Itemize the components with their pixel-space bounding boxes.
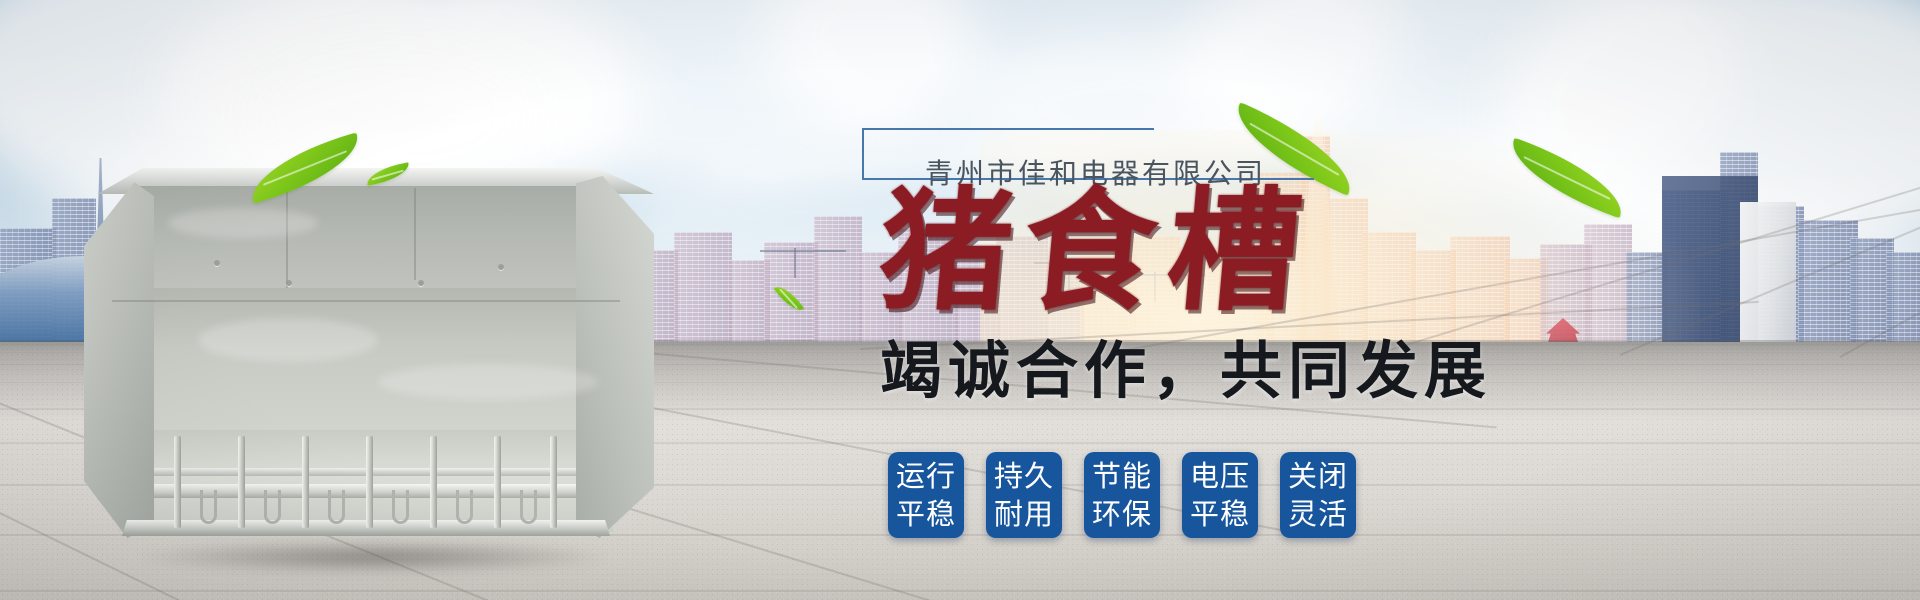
skyline-building [814,216,862,348]
banner-slogan: 竭诚合作，共同发展 [880,340,1492,402]
product-image-steel-trough [78,168,658,568]
trough-divider [366,436,373,528]
badge-line-1: 节能 [1092,457,1152,495]
skyline-building [1362,232,1416,348]
trough-divider [550,436,557,528]
skyline-building [1450,236,1510,348]
metal-sheen [198,318,378,362]
trough-spring-clip [456,490,473,524]
promotional-banner: 青州市佳和电器有限公司 猪食槽 竭诚合作，共同发展 运行平稳持久耐用节能环保电压… [0,0,1920,600]
building-windows [814,216,862,348]
trough-rivet [498,264,504,270]
feature-badge-5[interactable]: 关闭灵活 [1280,452,1356,538]
badge-line-2: 环保 [1092,495,1152,533]
panel-seam-vertical [286,192,288,288]
badge-line-1: 关闭 [1288,457,1348,495]
feature-badge-2[interactable]: 持久耐用 [986,452,1062,538]
trough-divider [238,436,245,528]
trough-spring-clip [264,490,281,524]
feature-badge-3[interactable]: 节能环保 [1084,452,1160,538]
trough-spring-clip [200,490,217,524]
feature-badge-4[interactable]: 电压平稳 [1182,452,1258,538]
trough-divider [174,436,181,528]
building-windows [1798,220,1858,348]
badge-line-2: 灵活 [1288,495,1348,533]
badge-line-2: 耐用 [994,495,1054,533]
badge-line-1: 持久 [994,457,1054,495]
building-windows [1886,252,1920,348]
building-windows [1584,224,1632,348]
construction-crane [760,250,846,252]
trough-spring-clip [328,490,345,524]
building-windows [1450,236,1510,348]
trough-rivet [286,280,292,286]
skyline-building [1886,252,1920,348]
skyline-white-tower [1740,202,1796,348]
trough-divider [494,436,501,528]
metal-sheen [378,364,598,400]
building-windows [1362,232,1416,348]
trough-divider [302,436,309,528]
trough-right-wall [576,176,654,538]
badge-line-2: 平稳 [1190,495,1250,533]
skyline-building [674,232,732,348]
trough-inner-slope [106,288,626,438]
panel-fold-line [112,300,620,302]
feature-badge-list: 运行平稳持久耐用节能环保电压平稳关闭灵活 [888,452,1356,538]
metal-sheen [168,208,318,238]
skyline-building [1798,220,1858,348]
badge-line-1: 运行 [896,457,956,495]
skyline-building [1584,224,1632,348]
page-title: 猪食槽 [874,186,1318,318]
building-windows [674,232,732,348]
badge-line-1: 电压 [1190,457,1250,495]
trough-spring-clip [520,490,537,524]
trough-spring-clip [392,490,409,524]
trough-back-wall [118,186,618,302]
feature-badge-1[interactable]: 运行平稳 [888,452,964,538]
crane-mast [794,248,796,278]
panel-seam-vertical [414,188,416,280]
trough-rivet [214,260,220,266]
product-shadow [138,540,608,574]
ground-seam-horizontal [0,590,1920,592]
badge-line-2: 平稳 [896,495,956,533]
trough-divider [430,436,437,528]
trough-left-wall [84,182,154,538]
trough-rivet [418,280,424,286]
